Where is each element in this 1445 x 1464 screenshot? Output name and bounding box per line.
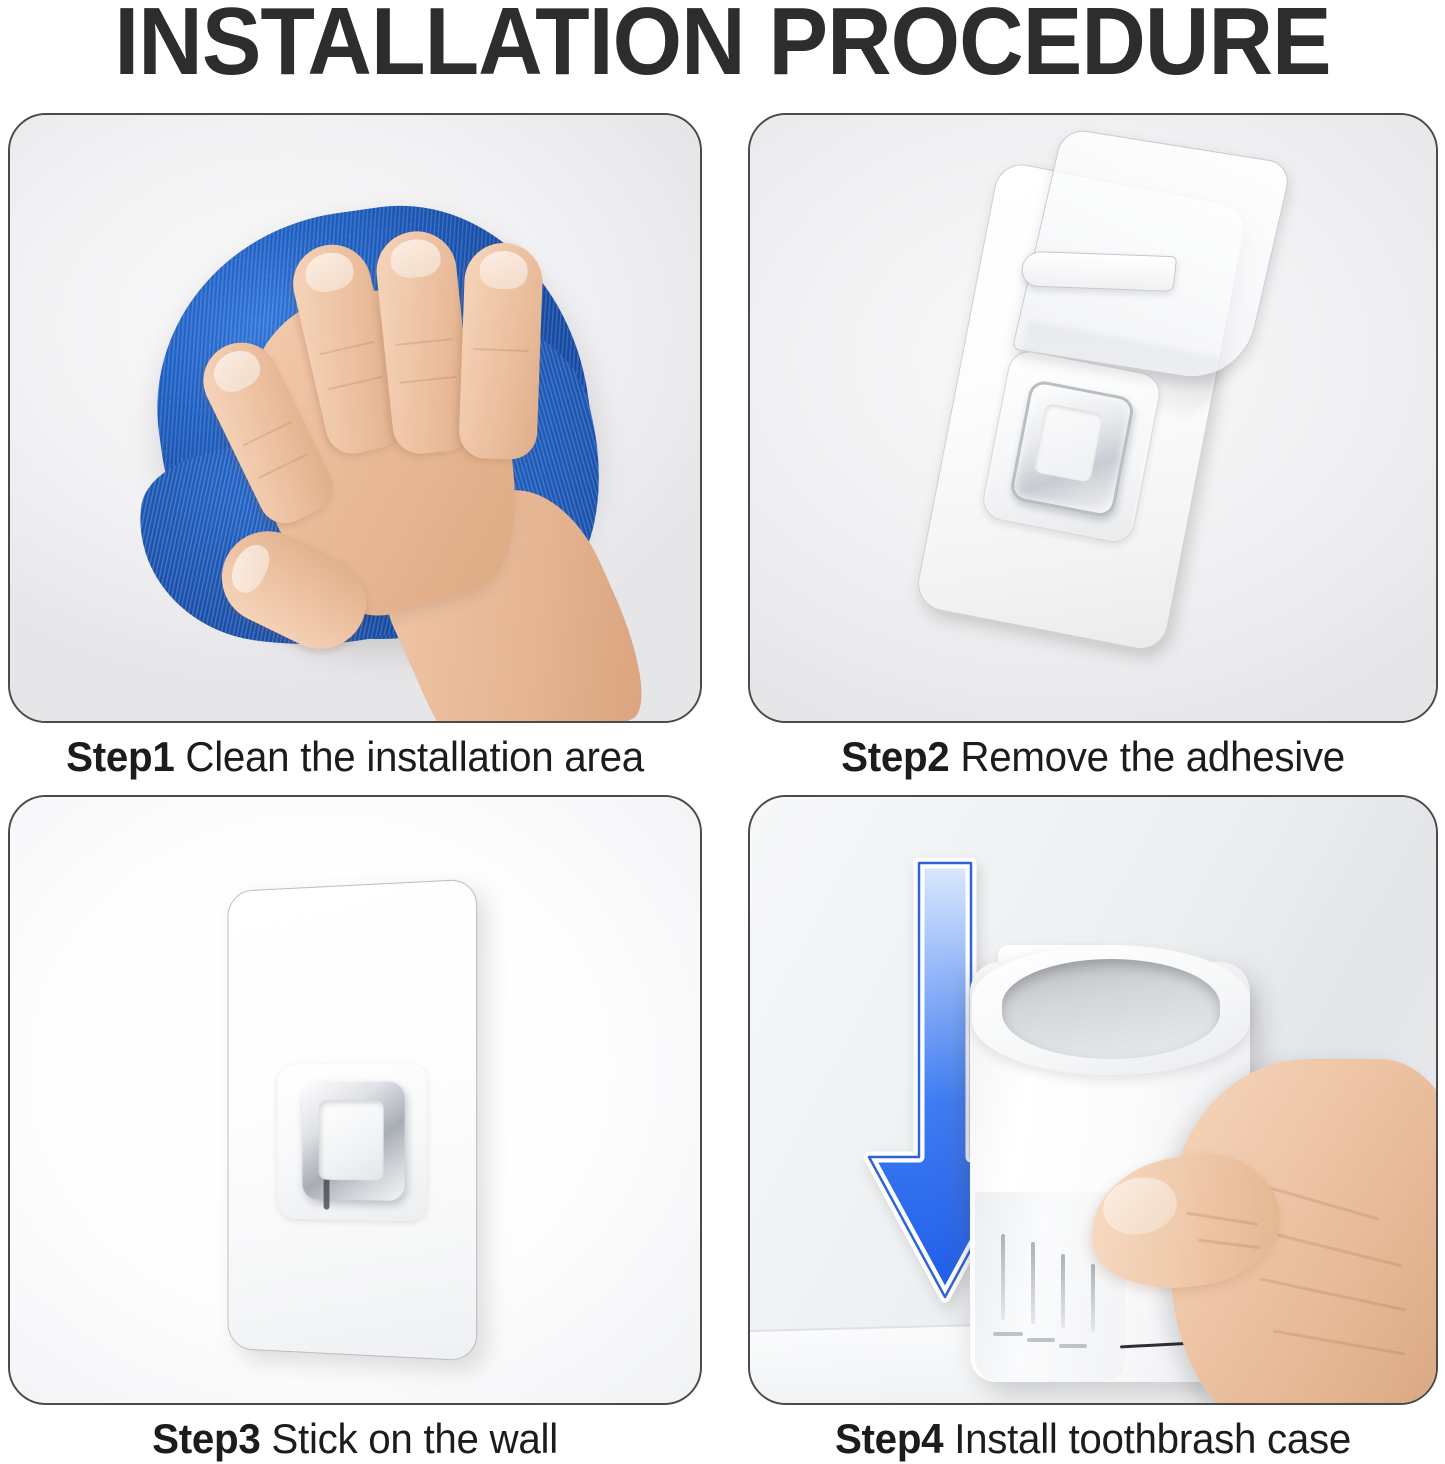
- square-hook-inner: [319, 1100, 384, 1181]
- toothbrush-slot-pin: [1001, 1234, 1005, 1320]
- knuckle-crease: [395, 338, 452, 346]
- step-4-number: Step4: [835, 1415, 943, 1462]
- knuckle-crease: [399, 376, 456, 384]
- step-2-text: Remove the adhesive: [960, 733, 1345, 780]
- knuckle-crease: [327, 376, 382, 391]
- step-3-caption: Step3 Stick on the wall: [22, 1415, 688, 1463]
- step-1-caption: Step1 Clean the installation area: [22, 733, 688, 781]
- knuckle-crease: [242, 421, 292, 447]
- page-title: INSTALLATION PROCEDURE: [51, 0, 1395, 90]
- toothbrush-slot-pin: [1091, 1264, 1095, 1332]
- step-2-number: Step2: [841, 733, 949, 780]
- step-4-caption: Step4 Install toothbrash case: [762, 1415, 1424, 1463]
- step-3-image-panel: [8, 795, 702, 1405]
- slot-line: [993, 1332, 1023, 1336]
- square-hook: [1008, 379, 1135, 519]
- mounted-adhesive-plate: [228, 878, 478, 1361]
- thumb-crease: [1198, 1239, 1260, 1250]
- knuckle-crease: [319, 341, 374, 356]
- palm-crease: [1273, 1329, 1405, 1355]
- step-2-caption: Step2 Remove the adhesive: [762, 733, 1424, 781]
- square-hook: [302, 1082, 404, 1201]
- fingernail: [207, 343, 266, 398]
- peel-tab: [1020, 251, 1177, 292]
- hook-pad: [277, 1063, 426, 1222]
- slot-line: [1059, 1344, 1087, 1348]
- step-4-image-panel: [748, 795, 1438, 1405]
- fingernail: [389, 237, 442, 280]
- square-hook-inner: [1033, 403, 1103, 483]
- step-1-text: Clean the installation area: [185, 733, 643, 780]
- fingernail: [302, 248, 358, 296]
- thumbnail: [225, 539, 276, 598]
- step-3-number: Step3: [152, 1415, 260, 1462]
- toothbrush-holder-cavity: [1002, 959, 1220, 1059]
- palm-crease: [1259, 1277, 1406, 1311]
- step-3-text: Stick on the wall: [271, 1415, 557, 1462]
- fingernail: [479, 250, 529, 290]
- protective-backing-film: [1012, 127, 1293, 386]
- step-1-number: Step1: [66, 733, 174, 780]
- hook-pad: [979, 348, 1163, 546]
- step-4-text: Install toothbrash case: [954, 1415, 1351, 1462]
- finger-pinky: [458, 242, 543, 461]
- toothbrush-slot-pin: [1031, 1242, 1035, 1324]
- slot-line: [1027, 1338, 1055, 1342]
- step-2-image-panel: [748, 113, 1438, 723]
- knuckle-crease: [473, 348, 529, 352]
- knuckle-crease: [258, 453, 308, 479]
- step-1-image-panel: [8, 113, 702, 723]
- toothbrush-slot-pin: [1061, 1254, 1065, 1328]
- thumb-crease: [1186, 1212, 1258, 1226]
